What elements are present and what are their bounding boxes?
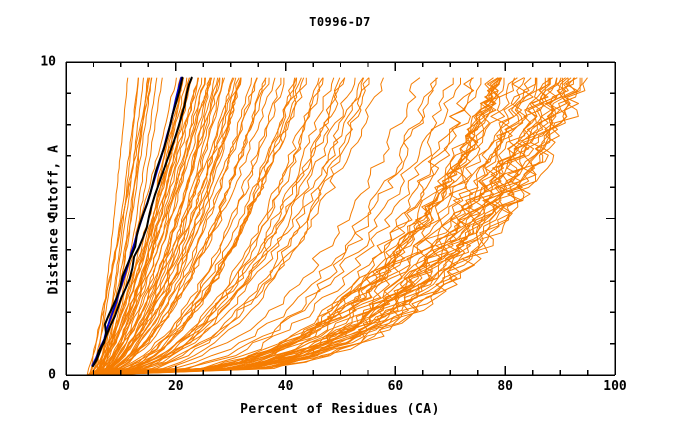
y-tick-label: 10 bbox=[40, 55, 56, 70]
x-tick-label: 20 bbox=[168, 379, 184, 394]
x-tick-label: 100 bbox=[603, 379, 626, 394]
model-curve bbox=[99, 78, 297, 375]
y-tick-label: 0 bbox=[48, 368, 56, 383]
x-tick-label: 80 bbox=[497, 379, 513, 394]
x-tick-label: 60 bbox=[388, 379, 404, 394]
chart-figure: T0996-D7 Percent of Residues (CA) Distan… bbox=[0, 0, 680, 440]
x-tick-label: 40 bbox=[278, 379, 294, 394]
background-curves-group bbox=[87, 78, 588, 375]
x-tick-label: 0 bbox=[62, 379, 70, 394]
y-tick-label: 5 bbox=[48, 211, 56, 226]
x-axis-label: Percent of Residues (CA) bbox=[0, 402, 680, 417]
page-title: T0996-D7 bbox=[0, 15, 680, 29]
plot-canvas bbox=[0, 0, 680, 440]
